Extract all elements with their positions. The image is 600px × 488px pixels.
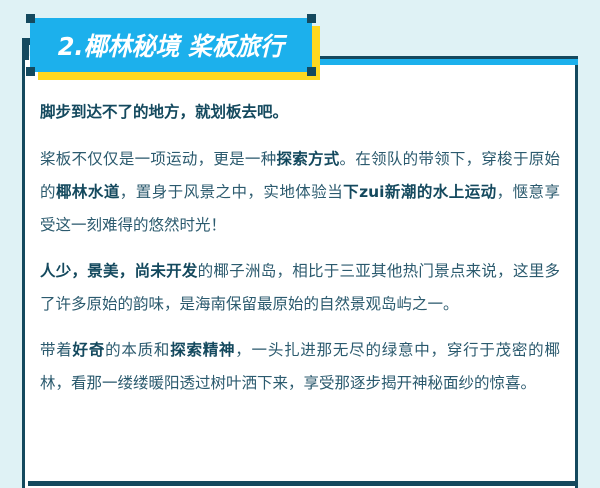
emphasis-text: 探索精神 bbox=[170, 341, 235, 359]
body-text-run: ，置身于风景之中，实地体验当 bbox=[120, 183, 343, 201]
card-top-left-riser bbox=[22, 38, 29, 60]
body-paragraph: 带着好奇的本质和探索精神，一头扎进那无尽的绿意中，穿行于茂密的椰林，看那一缕缕暖… bbox=[40, 334, 560, 400]
card-top-rail bbox=[305, 56, 578, 65]
section-banner: 2.椰林秘境 桨板旅行 bbox=[30, 18, 312, 72]
emphasis-text: 探索方式 bbox=[276, 150, 339, 168]
lead-paragraph: 脚步到达不了的地方，就划板去吧。 bbox=[40, 96, 560, 129]
body-paragraph: 桨板不仅仅是一项运动，更是一种探索方式。在领队的带领下，穿梭于原始的椰林水道，置… bbox=[40, 143, 560, 242]
banner-corner-top-right bbox=[307, 14, 316, 23]
card-bottom-bar bbox=[28, 481, 578, 486]
emphasis-text: 下zui新潮的水上运动 bbox=[343, 183, 496, 201]
emphasis-text: 好奇 bbox=[73, 341, 106, 359]
banner-plate: 2.椰林秘境 桨板旅行 bbox=[30, 18, 312, 72]
emphasis-text: 人少，景美，尚未开发 bbox=[40, 262, 198, 280]
banner-corner-bottom-right bbox=[307, 67, 316, 76]
article-body: 脚步到达不了的地方，就划板去吧。 桨板不仅仅是一项运动，更是一种探索方式。在领队… bbox=[40, 96, 560, 413]
banner-corner-bottom-left bbox=[26, 67, 35, 76]
banner-title: 2.椰林秘境 桨板旅行 bbox=[58, 27, 284, 63]
page-root: 2.椰林秘境 桨板旅行 脚步到达不了的地方，就划板去吧。 桨板不仅仅是一项运动，… bbox=[0, 0, 600, 488]
banner-corner-top-left bbox=[26, 14, 35, 23]
body-paragraph: 人少，景美，尚未开发的椰子洲岛，相比于三亚其他热门景点来说，这里多了许多原始的韵… bbox=[40, 255, 560, 321]
body-text-run: 桨板不仅仅是一项运动，更是一种 bbox=[40, 150, 276, 168]
paragraph-list: 桨板不仅仅是一项运动，更是一种探索方式。在领队的带领下，穿梭于原始的椰林水道，置… bbox=[40, 143, 560, 400]
body-text-run: 带着 bbox=[40, 341, 73, 359]
emphasis-text: 椰林水道 bbox=[56, 183, 120, 201]
body-text-run: 的本质和 bbox=[105, 341, 170, 359]
